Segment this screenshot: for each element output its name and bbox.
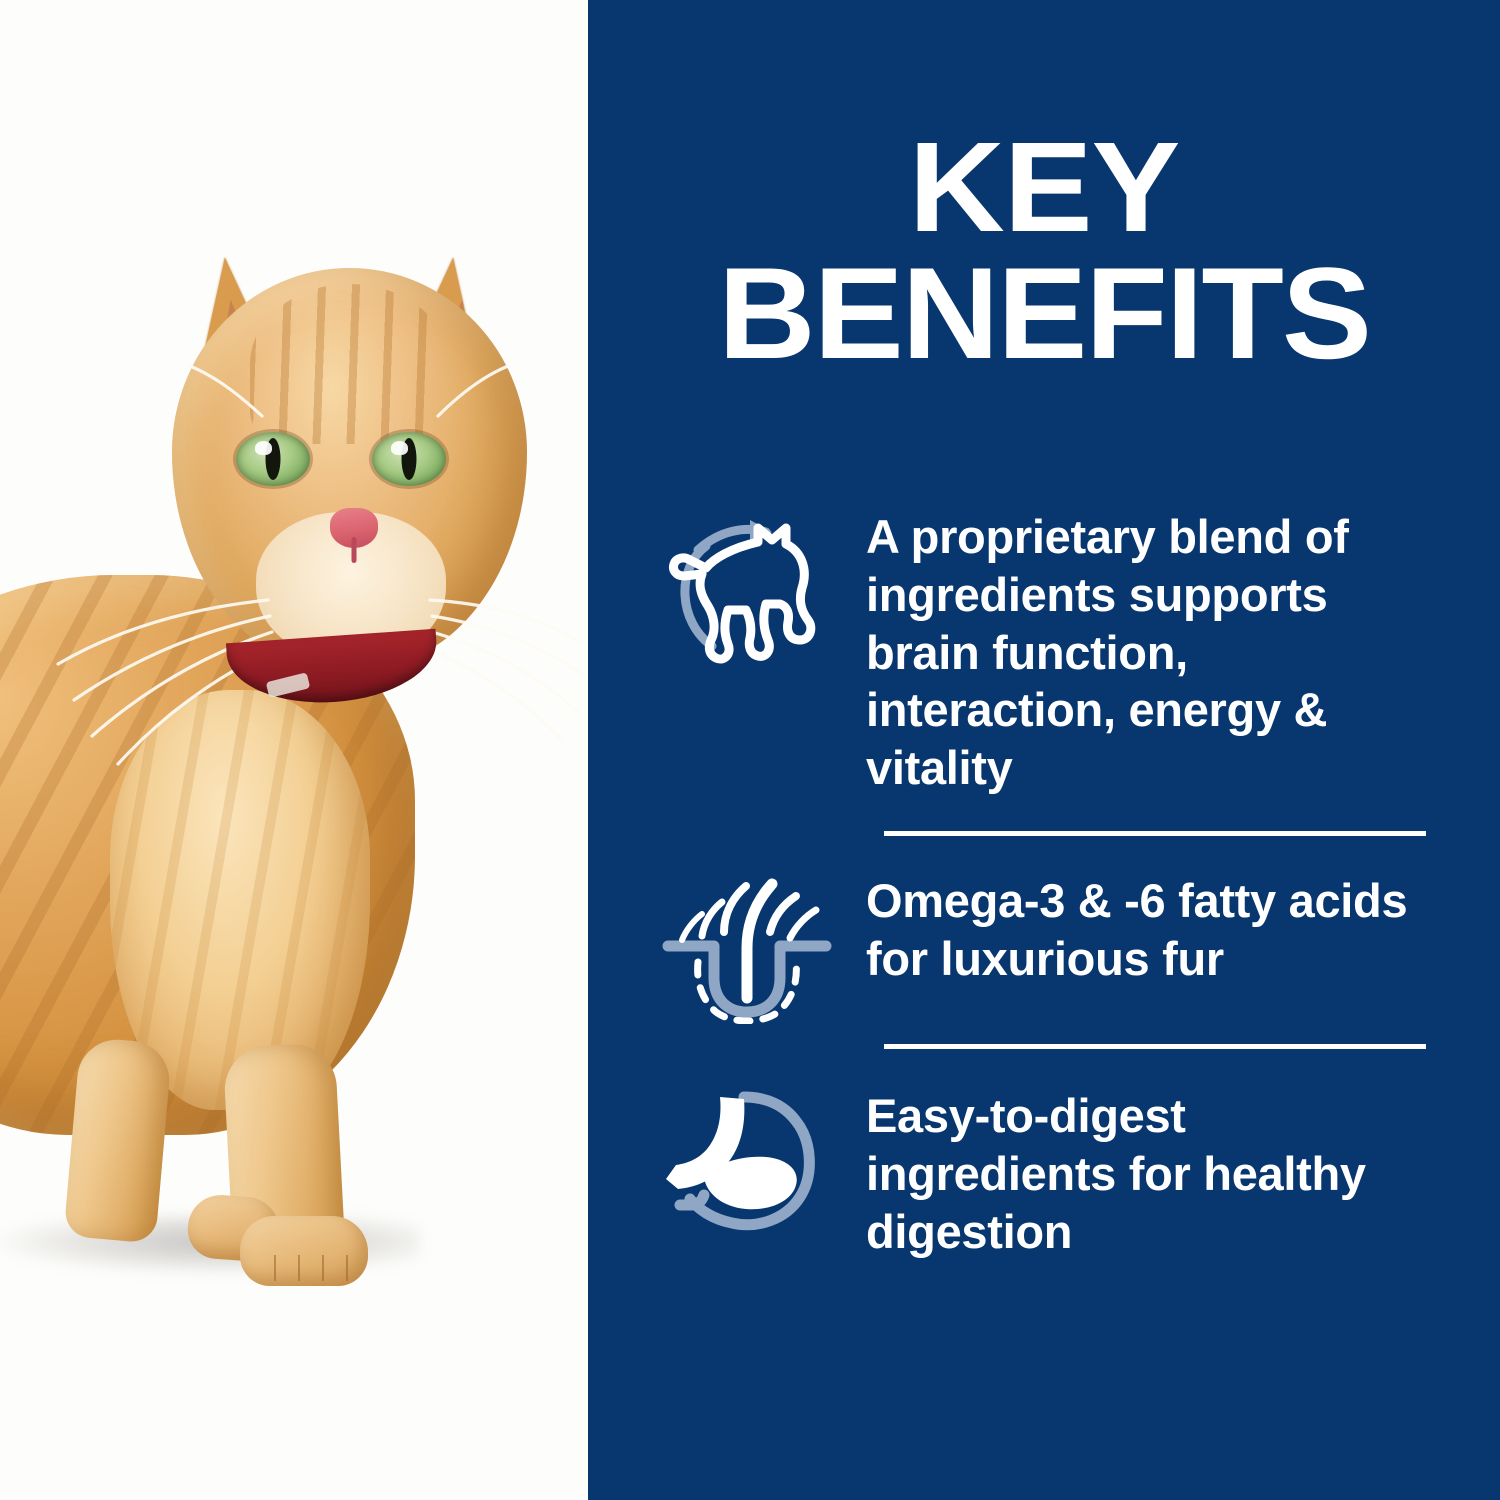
benefit-item-omega-fatty-acids: Omega-3 & -6 fatty acids for luxurious f… bbox=[662, 836, 1438, 1044]
key-benefits-panel: KEY BENEFITS A proprietary blend of ingr… bbox=[588, 0, 1500, 1500]
hair-follicle-icon bbox=[662, 864, 832, 1014]
cat-photo bbox=[0, 0, 588, 1500]
benefit-text: Easy-to-digest ingredients for healthy d… bbox=[866, 1079, 1438, 1260]
benefit-text: Omega-3 & -6 fatty acids for luxurious f… bbox=[866, 864, 1438, 988]
stomach-digestion-icon bbox=[662, 1079, 832, 1229]
cat-nose bbox=[330, 508, 378, 548]
benefit-item-easy-digestion: Easy-to-digest ingredients for healthy d… bbox=[662, 1049, 1438, 1260]
benefit-list: A proprietary blend of ingredients suppo… bbox=[662, 500, 1438, 1260]
benefit-text: A proprietary blend of ingredients suppo… bbox=[866, 500, 1438, 797]
cat-front-leg-left bbox=[63, 1036, 172, 1243]
cat-eye-left bbox=[236, 432, 310, 486]
cat-paw-right bbox=[240, 1216, 368, 1286]
cat-cycle-icon bbox=[662, 500, 832, 670]
title-line-key: KEY bbox=[599, 126, 1489, 250]
cat-eye-right bbox=[372, 432, 446, 486]
key-benefits-page: KEY BENEFITS A proprietary blend of ingr… bbox=[0, 0, 1500, 1500]
benefit-item-brain-function: A proprietary blend of ingredients suppo… bbox=[662, 500, 1438, 831]
cat-eye-glint-right bbox=[391, 441, 408, 455]
cat-eye-glint-left bbox=[255, 441, 272, 455]
cat-photo-panel bbox=[0, 0, 588, 1500]
title-line-benefits: BENEFITS bbox=[599, 250, 1489, 376]
page-title: KEY BENEFITS bbox=[588, 126, 1500, 376]
